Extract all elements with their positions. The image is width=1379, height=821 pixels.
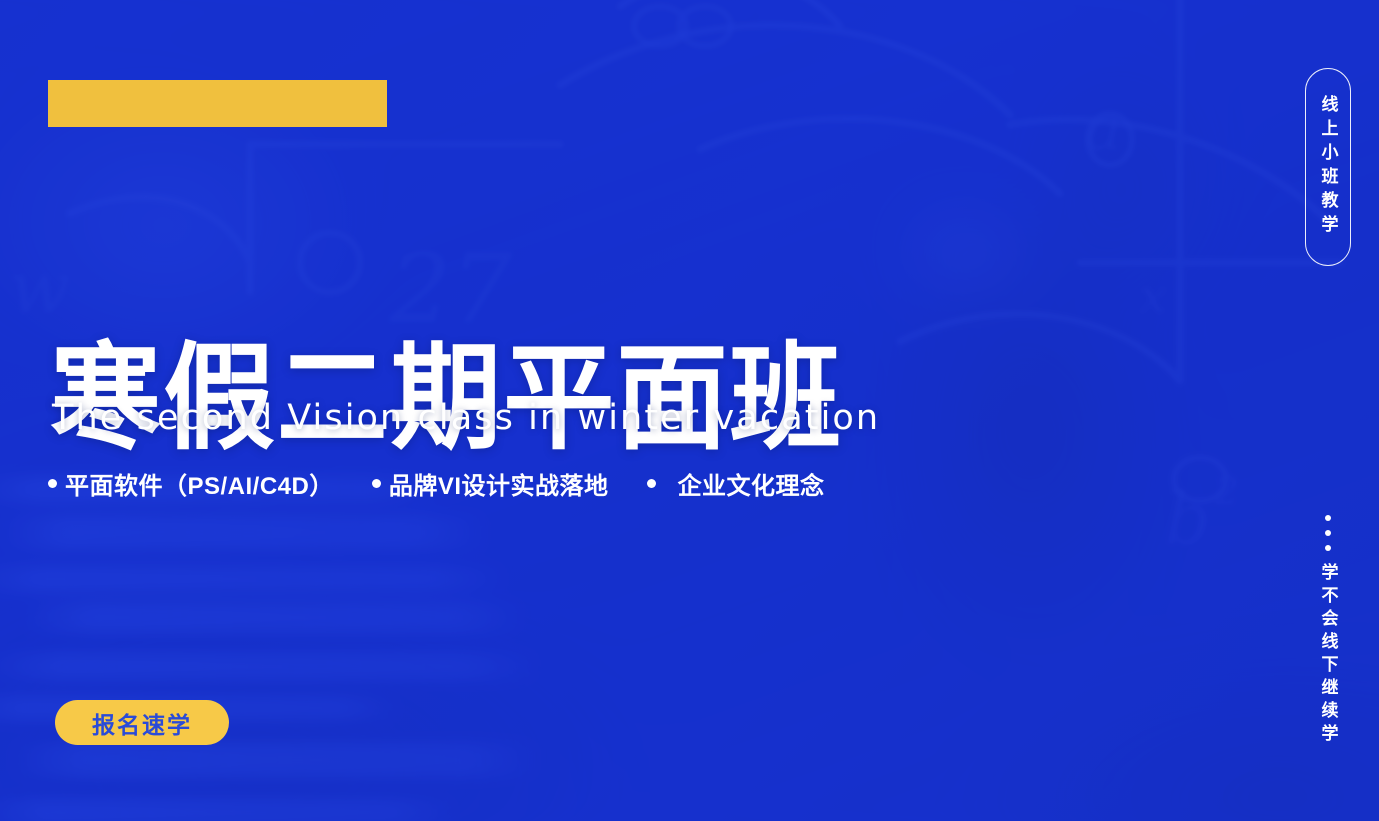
feature-label: 企业文化理念 — [678, 466, 825, 501]
enroll-button[interactable]: 报名速学 — [55, 700, 229, 745]
online-class-badge-label: 线上小班教学 — [1320, 95, 1337, 239]
bullet-dot-icon — [48, 479, 57, 488]
feature-label: 品牌VI设计实战落地 — [389, 466, 609, 501]
guarantee-slogan: 学不会线下继续学 — [1305, 515, 1351, 747]
feature-item: 平面软件（PS/AI/C4D） — [48, 466, 334, 501]
page-subtitle: The second Vision class in winter vacati… — [52, 396, 880, 440]
feature-label: 平面软件（PS/AI/C4D） — [65, 466, 334, 501]
bullet-dot-icon — [372, 479, 381, 488]
top-accent-bar — [48, 80, 387, 127]
poster-content: 寒假二期平面班 The second Vision class in winte… — [0, 0, 1379, 821]
feature-item: 企业文化理念 — [647, 466, 825, 501]
feature-item: 品牌VI设计实战落地 — [372, 466, 609, 501]
feature-list: 平面软件（PS/AI/C4D） 品牌VI设计实战落地 企业文化理念 — [48, 466, 825, 501]
online-class-badge: 线上小班教学 — [1305, 68, 1351, 266]
guarantee-slogan-label: 学不会线下继续学 — [1320, 563, 1337, 747]
bullet-dot-icon — [647, 479, 656, 488]
course-promo-poster: a x b 2 27 w 寒假二期平面班 The second Vision c… — [0, 0, 1379, 821]
three-dots-icon — [1325, 515, 1331, 551]
